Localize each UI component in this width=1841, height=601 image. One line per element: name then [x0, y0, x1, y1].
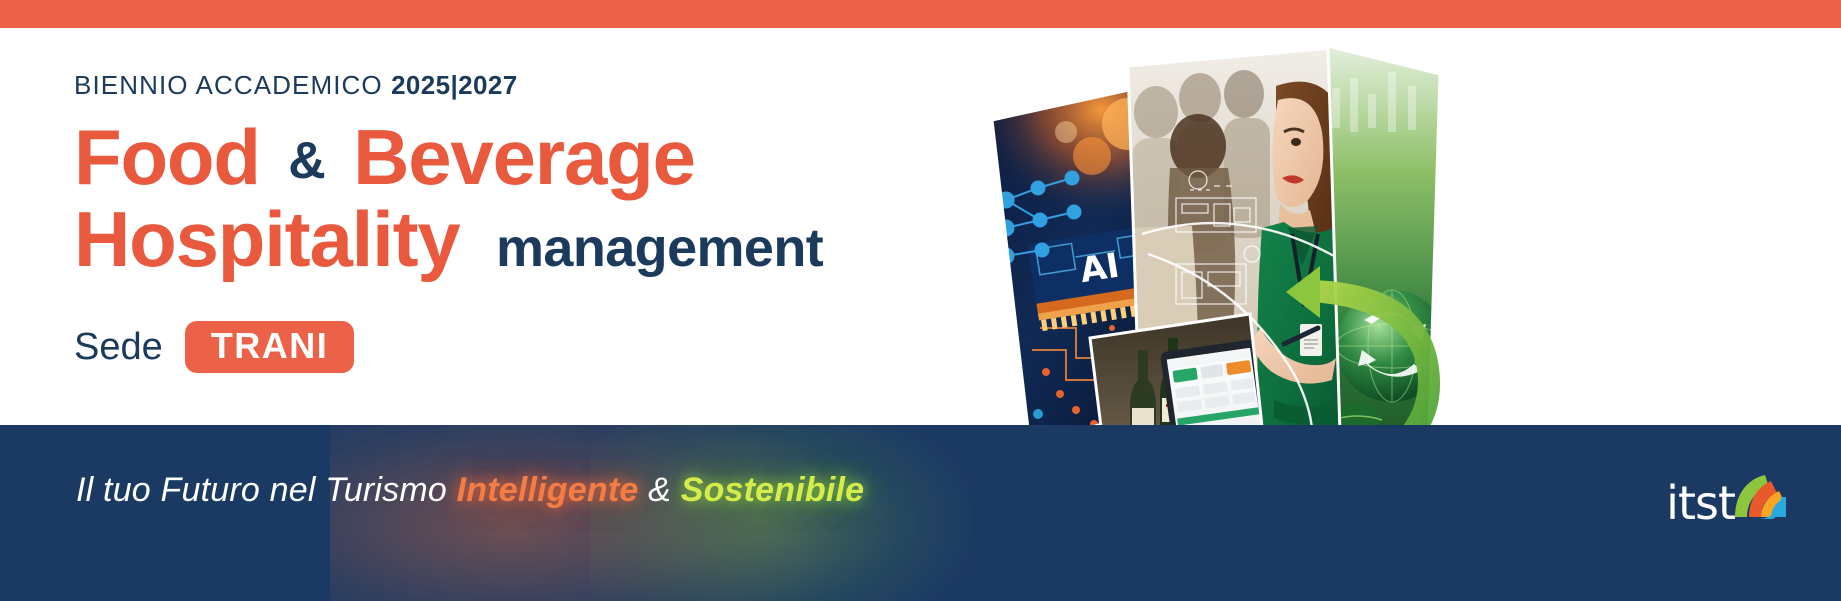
headline-block: BIENNIO ACCADEMICO 2025|2027 Food & Beve… [74, 72, 934, 373]
title-word-food: Food [74, 113, 260, 201]
tagline-separator: & [648, 471, 671, 509]
tagline-highlight-intelligente: Intelligente [457, 471, 639, 509]
sede-row: Sede TRANI [74, 321, 934, 373]
tagline-highlight-sostenibile: Sostenibile [681, 471, 865, 509]
title-word-beverage: Beverage [353, 113, 695, 201]
biennium-prefix: BIENNIO ACCADEMICO [74, 70, 383, 100]
sede-city-badge: TRANI [185, 321, 355, 373]
itst-logo[interactable]: itst [1666, 473, 1787, 526]
banner-root: AI [0, 0, 1841, 601]
page-title: Food & Beverage Hospitality management [74, 120, 934, 277]
itst-wordmark: itst [1666, 480, 1735, 526]
itst-fan-icon [1731, 473, 1787, 524]
academic-biennium-label: BIENNIO ACCADEMICO 2025|2027 [74, 72, 934, 98]
title-ampersand: & [280, 132, 332, 190]
title-word-hospitality: Hospitality [74, 195, 460, 283]
footer-bar: Il tuo Futuro nel Turismo Intelligente &… [0, 425, 1841, 601]
ai-chip-label: AI [1077, 246, 1122, 292]
footer-green-glow [590, 425, 970, 601]
title-word-management: management [480, 218, 823, 278]
tagline-part1: Il tuo Futuro nel Turismo [76, 471, 447, 509]
tagline: Il tuo Futuro nel Turismo Intelligente &… [76, 471, 864, 510]
biennium-years: 2025|2027 [391, 70, 518, 100]
sede-label: Sede [74, 326, 163, 369]
top-accent-bar [0, 0, 1841, 28]
